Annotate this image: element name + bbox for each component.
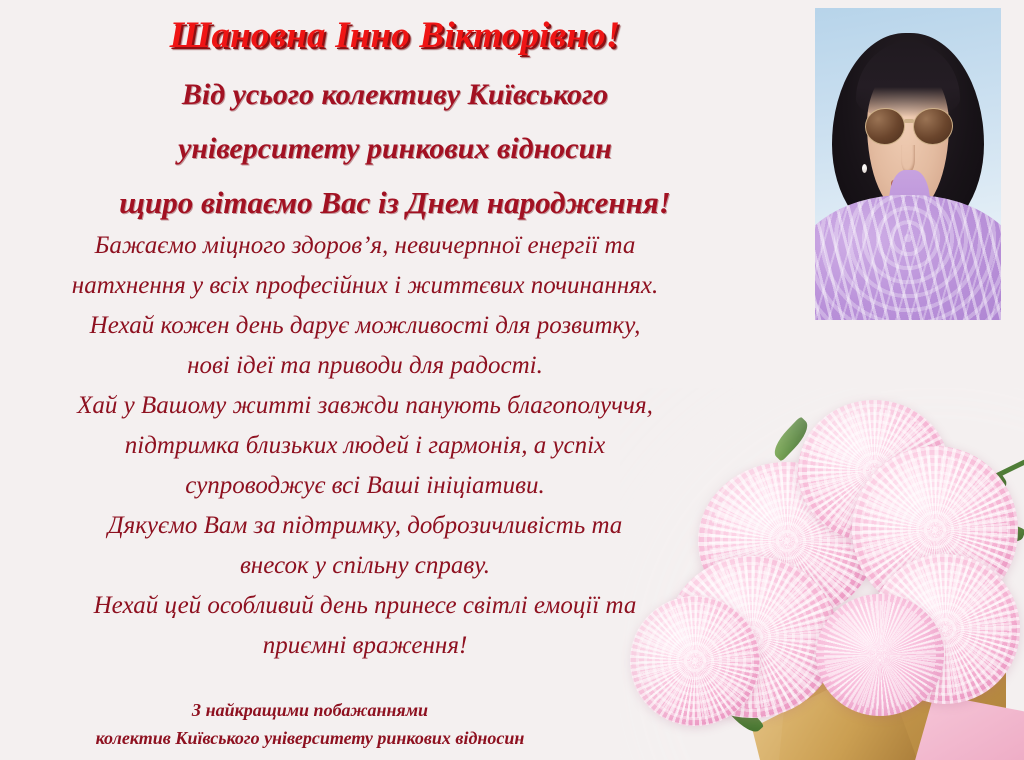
body-line-8: Дякуємо Вам за підтримку, доброзичливіст… — [0, 512, 730, 540]
body-line-10: Нехай цей особливий день принесе світлі … — [0, 592, 730, 620]
intro-line-3: щиро вітаємо Вас із Днем народження! — [0, 185, 790, 221]
body-line-3: Нехай кожен день дарує можливості для ро… — [0, 312, 730, 340]
body-line-9: внесок у спільну справу. — [0, 552, 730, 580]
body-line-5: Хай у Вашому житті завжди панують благоп… — [0, 392, 730, 420]
body-line-4: нові ідеї та приводи для радості. — [0, 352, 730, 380]
body-line-6: підтримка близьких людей і гармонія, а у… — [0, 432, 730, 460]
body-line-7: супроводжує всі Ваші ініціативи. — [0, 472, 730, 500]
intro-line-2: університету ринкових відносин — [0, 132, 790, 166]
card-text: Шановна Інно Вікторівно! Від усього коле… — [0, 0, 1024, 760]
greeting-card: Шановна Інно Вікторівно! Від усього коле… — [0, 0, 1024, 760]
body-line-11: приємні враження! — [0, 632, 730, 660]
signature-line-2: колектив Київського університету ринкови… — [0, 728, 620, 749]
salutation-heading: Шановна Інно Вікторівно! — [0, 14, 790, 57]
signature-line-1: З найкращими побажаннями — [0, 700, 620, 721]
body-line-2: натхнення у всіх професійних і життєвих … — [0, 272, 730, 300]
body-line-1: Бажаємо міцного здоров’я, невичерпної ен… — [0, 232, 730, 260]
intro-line-1: Від усього колективу Київського — [0, 78, 790, 112]
